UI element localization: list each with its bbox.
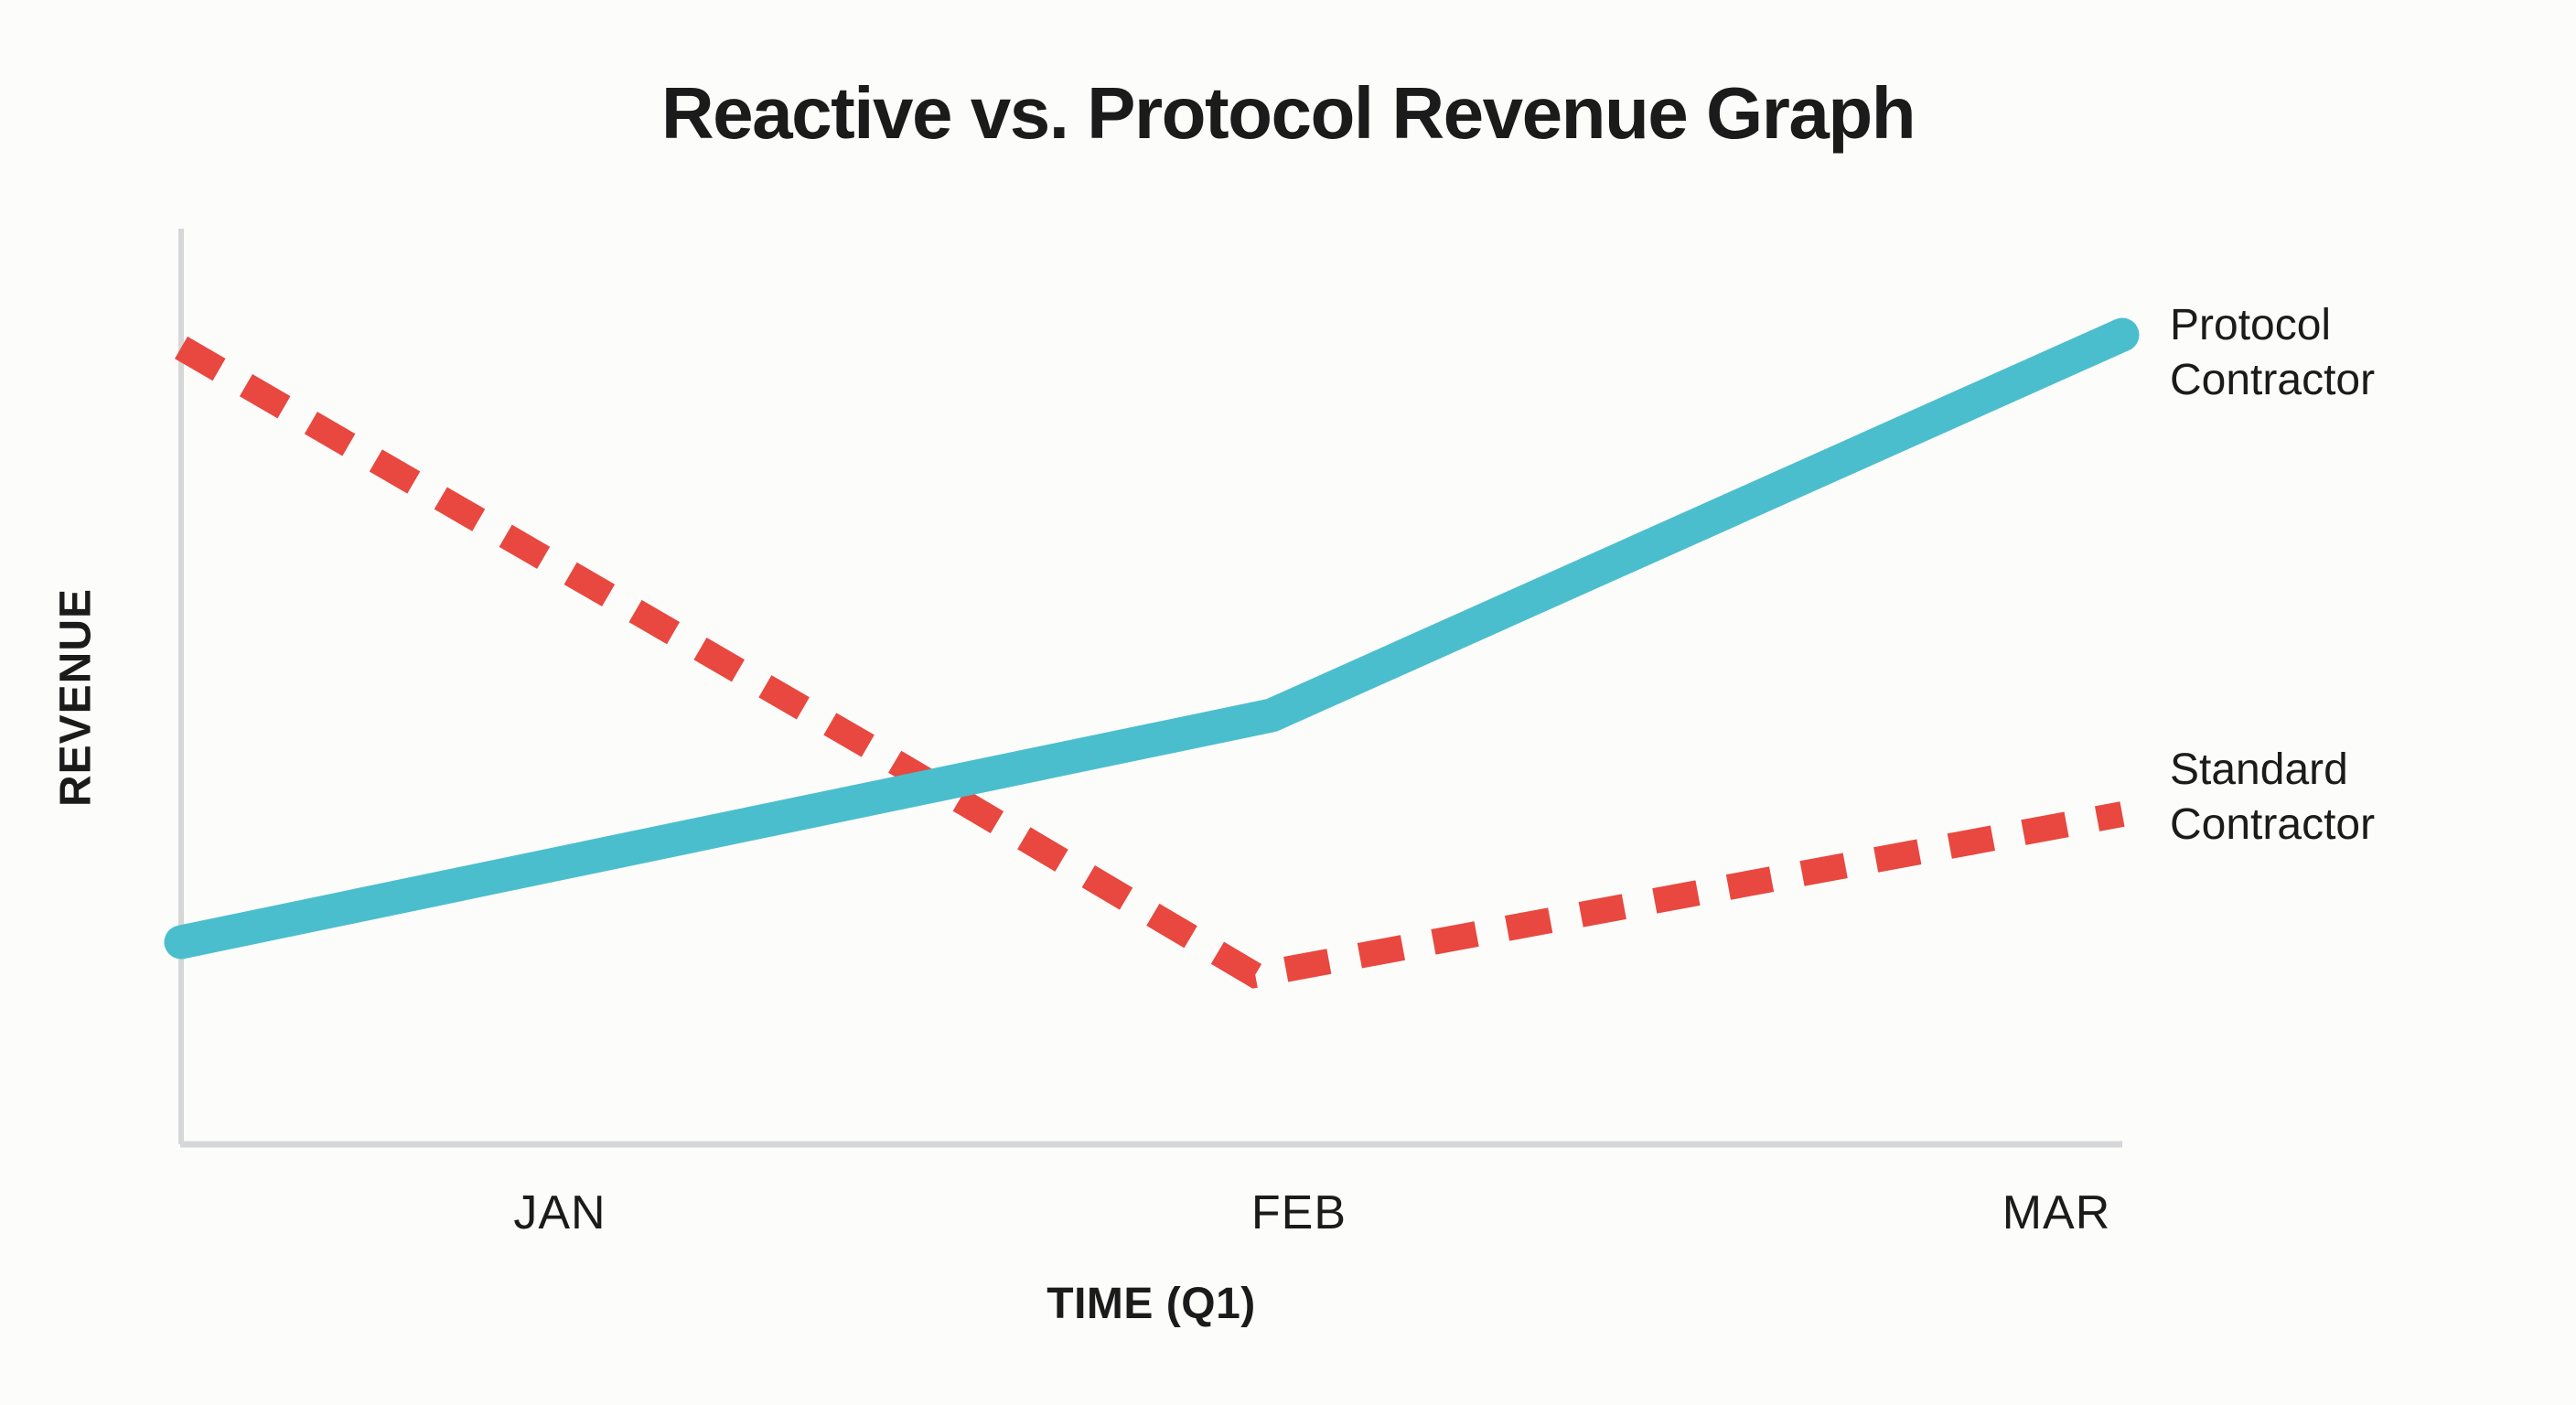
x-axis-title: TIME (Q1) — [180, 1279, 2122, 1329]
x-tick-label-mar: MAR — [1919, 1185, 2194, 1240]
legend-protocol-line2: Contractor — [2170, 353, 2375, 408]
legend-standard-line1: Standard — [2170, 745, 2348, 794]
legend-protocol-line1: Protocol — [2170, 301, 2331, 349]
legend-item-standard-contractor: Standard Contractor — [2170, 743, 2375, 853]
y-axis-title: REVENUE — [51, 552, 102, 844]
legend-standard-line2: Contractor — [2170, 798, 2375, 853]
x-tick-label-feb: FEB — [1162, 1185, 1436, 1240]
chart-canvas: Reactive vs. Protocol Revenue Graph REVE… — [0, 0, 2576, 1405]
series-line-protocol-contractor — [181, 335, 2122, 942]
x-tick-label-jan: JAN — [423, 1185, 697, 1240]
legend-item-protocol-contractor: Protocol Contractor — [2170, 298, 2375, 408]
